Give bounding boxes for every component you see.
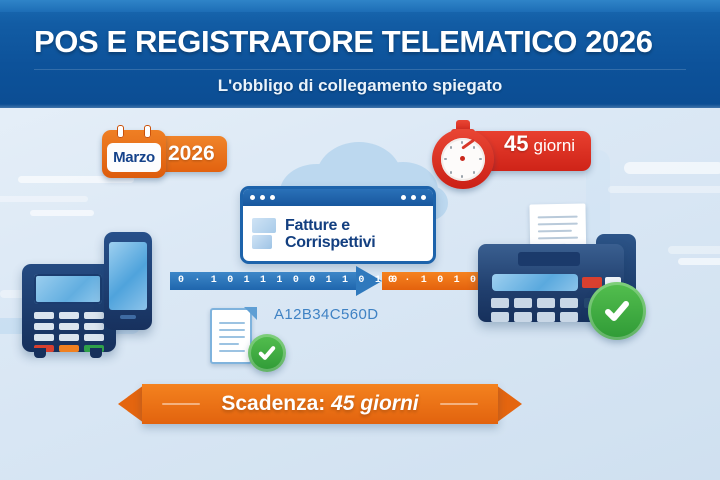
document-fold-corner	[244, 307, 257, 320]
header-bottom-highlight	[0, 104, 720, 108]
ribbon-notch-left	[118, 385, 144, 423]
stopwatch-icon	[432, 120, 496, 184]
fiscal-code-label: A12B34C560D	[274, 306, 378, 323]
pos-foot-left	[34, 348, 46, 358]
register-paper-slot	[518, 252, 580, 266]
ribbon-highlight: 45 giorni	[331, 392, 419, 415]
pos-screen	[34, 274, 102, 304]
data-transmission-arrow: 0 · 1 0 1 1 1 0 0 1 1 0 1 0 0 · 1 0 1 0 …	[170, 268, 500, 294]
timer-unit-label: giorni	[533, 136, 575, 156]
register-display	[492, 274, 578, 291]
documents-folder-icon	[252, 217, 278, 251]
calendar-year-label: 2026	[168, 142, 215, 166]
phone-home-button	[120, 315, 136, 319]
ribbon-notch-right	[496, 385, 522, 423]
header-top-strip	[0, 0, 720, 12]
ribbon-prefix: Scadenza:	[221, 392, 331, 415]
bg-line-4	[624, 162, 720, 174]
bg-line-6	[668, 246, 720, 254]
header-divider	[34, 69, 686, 70]
page-title: POS E REGISTRATORE TELEMATICO 2026	[34, 24, 694, 60]
bg-line-7	[678, 258, 720, 265]
phone-screen	[109, 242, 147, 310]
timer-value-label: 45	[504, 131, 528, 157]
window-dots-right	[401, 195, 426, 200]
ribbon-dash-right	[440, 403, 478, 405]
calendar-month-label: Marzo	[113, 149, 155, 166]
header-banner: POS E REGISTRATORE TELEMATICO 2026 L'obb…	[0, 0, 720, 108]
calendar-ring-right	[144, 125, 151, 138]
register-verified-check-icon	[588, 282, 646, 340]
pos-keypad	[34, 312, 104, 352]
stopwatch-pin	[460, 156, 465, 161]
browser-title-bar	[243, 189, 433, 206]
bg-line-3	[30, 210, 94, 216]
calendar-face: Marzo	[107, 143, 161, 172]
bg-line-5	[608, 186, 720, 193]
deadline-ribbon: Scadenza: 45 giorni	[118, 384, 522, 424]
calendar-icon: Marzo	[102, 130, 166, 178]
smartphone	[104, 232, 152, 330]
register-red-button	[582, 277, 602, 288]
browser-content: Fatture e Corrispettivi	[243, 206, 433, 261]
pos-foot-right	[90, 348, 102, 358]
infographic-canvas: POS E REGISTRATORE TELEMATICO 2026 L'obb…	[0, 0, 720, 480]
card-title-line2: Corrispettivi	[285, 234, 375, 251]
bg-line-2	[0, 196, 88, 202]
page-subtitle: L'obbligo di collegamento spiegato	[0, 76, 720, 96]
ribbon-dash-left	[162, 403, 200, 405]
ribbon-label: Scadenza: 45 giorni	[221, 392, 418, 416]
register-keypad	[491, 298, 578, 322]
document-verified-check-icon	[248, 334, 286, 372]
calendar-ring-left	[117, 125, 124, 138]
browser-card-title: Fatture e Corrispettivi	[285, 217, 375, 251]
binary-bits-blue: 0 · 1 0 1 1 1 0 0 1 1 0 1 0	[178, 274, 399, 288]
window-dots-left	[250, 195, 275, 200]
pos-body	[22, 264, 116, 352]
fatture-corrispettivi-card[interactable]: Fatture e Corrispettivi	[240, 186, 436, 264]
card-title-line1: Fatture e	[285, 217, 350, 234]
